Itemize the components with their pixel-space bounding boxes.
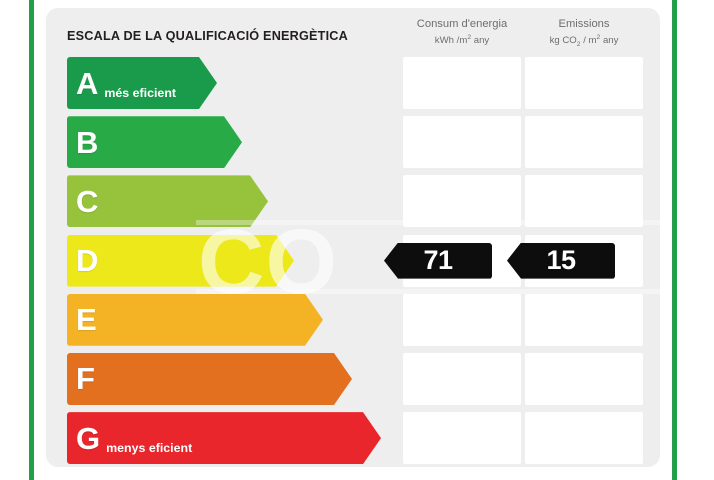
emissions-rating-badge: 15	[507, 243, 615, 279]
rating-note-a: més eficient	[104, 86, 176, 100]
rating-row-a: Amés eficient	[46, 55, 660, 111]
value-cell-emissions-a	[525, 57, 643, 109]
frame-gutter-left	[34, 0, 43, 480]
rating-letter-a: A	[76, 68, 98, 99]
rating-letter-d: D	[76, 245, 98, 276]
value-cell-energy-e	[403, 294, 521, 346]
rating-letter-f: F	[76, 363, 95, 394]
rating-bar-a: Amés eficient	[67, 57, 217, 109]
rating-row-f: F	[46, 351, 660, 407]
column-header-energy-units: kWh /m2 any	[402, 33, 522, 48]
energy-units-prefix: kWh /m	[435, 35, 468, 46]
rating-row-c: C	[46, 173, 660, 229]
value-cell-energy-g	[403, 412, 521, 464]
column-header-energy: Consum d'energia kWh /m2 any	[402, 17, 522, 48]
rating-bar-e: E	[67, 294, 323, 346]
rating-letter-g: G	[76, 423, 100, 454]
emissions-rating-value: 15	[546, 247, 575, 274]
column-header-emissions: Emissions kg CO2 / m2 any	[524, 17, 644, 49]
energy-label-panel: ESCALA DE LA QUALIFICACIÓ ENERGÈTICA Con…	[46, 8, 660, 467]
rating-bar-g: Gmenys eficient	[67, 412, 381, 464]
frame-gutter-right	[663, 0, 672, 480]
page-title: ESCALA DE LA QUALIFICACIÓ ENERGÈTICA	[67, 28, 348, 43]
rating-row-g: Gmenys eficient	[46, 410, 660, 466]
rating-bar-d: D	[67, 235, 294, 287]
rating-letter-c: C	[76, 186, 98, 217]
rating-note-g: menys eficient	[106, 441, 192, 455]
rating-row-e: E	[46, 292, 660, 348]
rating-bar-c: C	[67, 175, 268, 227]
value-cell-energy-f	[403, 353, 521, 405]
emissions-units-suffix: any	[600, 35, 618, 46]
value-cell-energy-b	[403, 116, 521, 168]
value-cell-emissions-c	[525, 175, 643, 227]
rating-rows: Amés eficientBCD7115EFGmenys eficient	[46, 55, 660, 469]
value-cell-energy-a	[403, 57, 521, 109]
frame-border-right	[672, 0, 677, 480]
energy-rating-value: 71	[423, 247, 452, 274]
column-header-emissions-title: Emissions	[524, 17, 644, 32]
emissions-units-prefix: kg CO	[550, 35, 577, 46]
emissions-units-mid: / m	[581, 35, 597, 46]
label-header: ESCALA DE LA QUALIFICACIÓ ENERGÈTICA Con…	[46, 8, 660, 55]
rating-letter-b: B	[76, 127, 98, 158]
value-cell-energy-c	[403, 175, 521, 227]
value-cell-emissions-b	[525, 116, 643, 168]
rating-bar-b: B	[67, 116, 242, 168]
column-header-energy-title: Consum d'energia	[402, 17, 522, 32]
column-header-emissions-units: kg CO2 / m2 any	[524, 33, 644, 49]
rating-row-d: D7115	[46, 233, 660, 289]
rating-bar-f: F	[67, 353, 352, 405]
rating-letter-e: E	[76, 304, 97, 335]
rating-row-b: B	[46, 114, 660, 170]
value-cell-emissions-g	[525, 412, 643, 464]
value-cell-emissions-f	[525, 353, 643, 405]
energy-units-suffix: any	[471, 35, 489, 46]
energy-rating-badge: 71	[384, 243, 492, 279]
value-cell-emissions-e	[525, 294, 643, 346]
